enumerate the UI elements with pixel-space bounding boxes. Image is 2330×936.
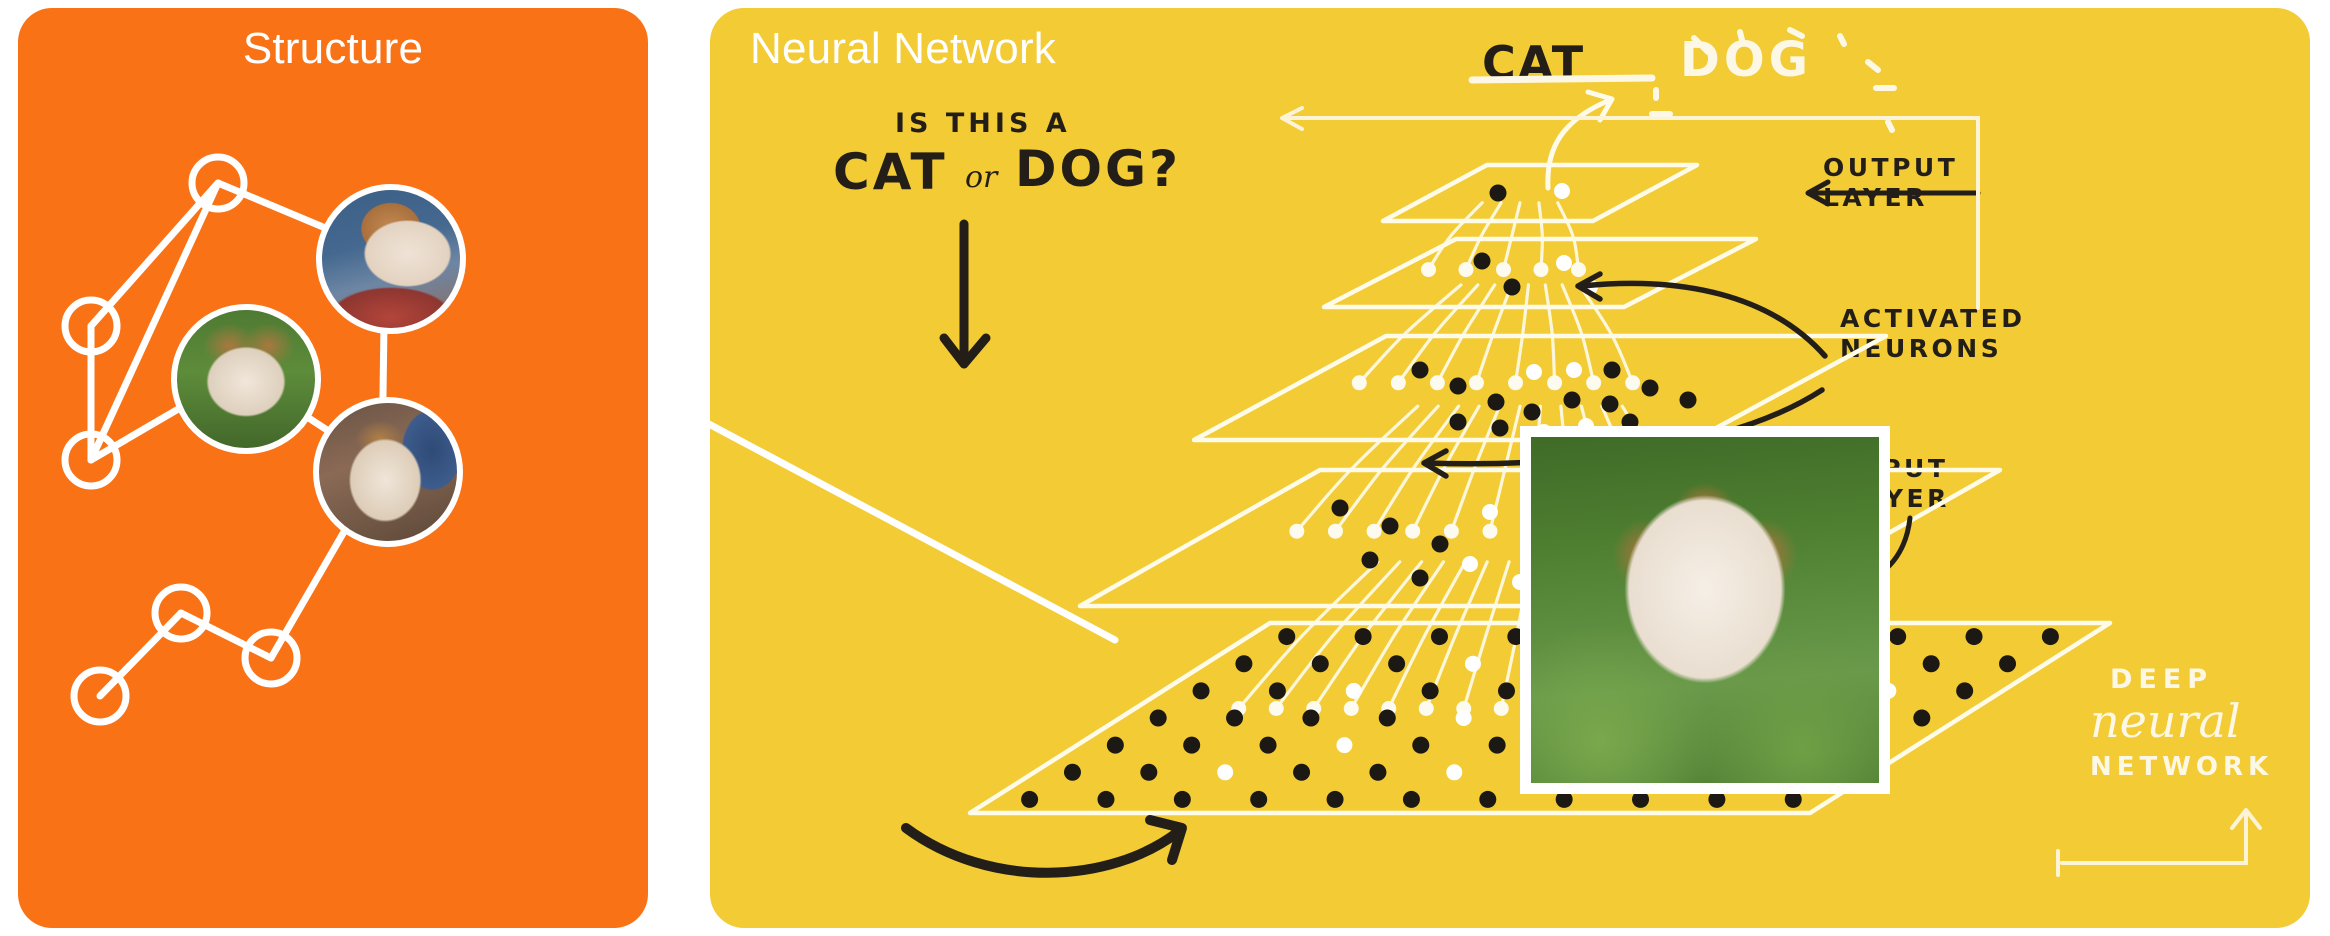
neural-network-panel: Neural Network IS THIS A CAT or DOG? OUT… xyxy=(710,8,2310,928)
sparkle-5 xyxy=(1790,30,1802,36)
dog-sparkles-layer xyxy=(1630,14,1930,144)
graph-edge-7 xyxy=(100,613,181,696)
sparkle-4 xyxy=(1740,32,1742,40)
question-down-arrow-layer xyxy=(710,8,2310,928)
graph-photo-node-bulldog-rug[interactable] xyxy=(316,184,466,334)
sparkle-6 xyxy=(1840,36,1844,44)
caption-network: NETWORK xyxy=(2090,752,2273,782)
graph-photo-node-bulldog-puppy[interactable] xyxy=(313,397,463,547)
structure-panel: Structure xyxy=(18,8,648,928)
sparkle-9 xyxy=(1868,62,1878,70)
caption-neural: neural xyxy=(2090,694,2241,748)
sparkle-8 xyxy=(1888,122,1892,130)
caption-deep: DEEP xyxy=(2110,664,2213,695)
graph-photo-node-bulldog-grass[interactable] xyxy=(171,304,321,454)
cat-strikethrough xyxy=(1472,78,1652,80)
sparkle-3 xyxy=(1694,38,1708,52)
